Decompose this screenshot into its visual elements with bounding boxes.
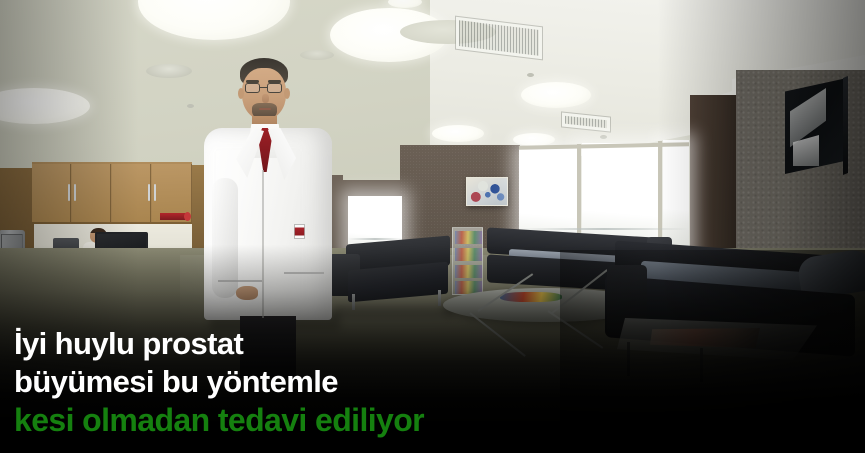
doctor-hand	[236, 286, 258, 300]
smoke-detector-icon	[187, 104, 194, 108]
headline-line-2: büyümesi bu yöntemle	[14, 363, 424, 401]
coat-pocket-left	[218, 280, 262, 282]
eyeglasses-bridge-icon	[260, 87, 267, 88]
smoke-detector-icon	[527, 73, 534, 77]
promo-banner: İyi huylu prostat büyümesi bu yöntemle k…	[0, 0, 865, 453]
headline-line-3: kesi olmadan tedavi ediliyor	[14, 401, 424, 439]
doctor-portrait	[196, 58, 346, 320]
magazine-row	[455, 265, 482, 278]
cabinet-handle[interactable]	[68, 184, 70, 201]
coat-pocket-badge	[294, 224, 305, 239]
doctor-ear	[284, 88, 290, 99]
cabinet-door[interactable]	[112, 164, 151, 222]
window-horizon-line	[519, 228, 689, 230]
wall-fire-equipment	[160, 213, 186, 220]
doctor-mouth	[259, 108, 271, 110]
armchair-leg	[352, 294, 355, 310]
magazine-row	[455, 248, 482, 261]
smoke-detector-icon	[600, 135, 607, 139]
lounge-armchair	[330, 240, 450, 312]
coat-button-placket	[262, 170, 264, 318]
ceiling-light-round	[521, 82, 591, 108]
headline-block: İyi huylu prostat büyümesi bu yöntemle k…	[14, 325, 424, 439]
side-table-magazine	[650, 328, 760, 348]
wall-indicator-light	[184, 212, 191, 221]
table-magazines	[500, 292, 562, 302]
right-sofa	[615, 243, 865, 383]
cabinet-handle[interactable]	[154, 184, 156, 201]
side-table-leg	[700, 348, 703, 382]
ceiling-speaker-icon	[146, 64, 192, 78]
magazine-rack	[452, 227, 483, 295]
cabinet-handle[interactable]	[74, 184, 76, 201]
eyeglasses-lens-left	[245, 83, 260, 93]
armchair-leg	[438, 290, 441, 306]
magazine-row	[455, 231, 482, 244]
ceiling-light-round	[432, 125, 484, 142]
side-table-leg	[627, 342, 630, 376]
doctor-nose	[262, 94, 269, 103]
doctor-ear	[238, 88, 244, 99]
coat-pocket-right	[284, 272, 324, 274]
cabinet-door[interactable]	[32, 164, 71, 222]
tv-bezel-edge	[843, 76, 848, 175]
cabinet-door[interactable]	[72, 164, 111, 222]
cabinet-handle[interactable]	[148, 184, 150, 201]
eyeglasses-lens-right	[267, 83, 282, 93]
abstract-wall-painting	[466, 177, 508, 206]
headline-line-1: İyi huylu prostat	[14, 325, 424, 363]
